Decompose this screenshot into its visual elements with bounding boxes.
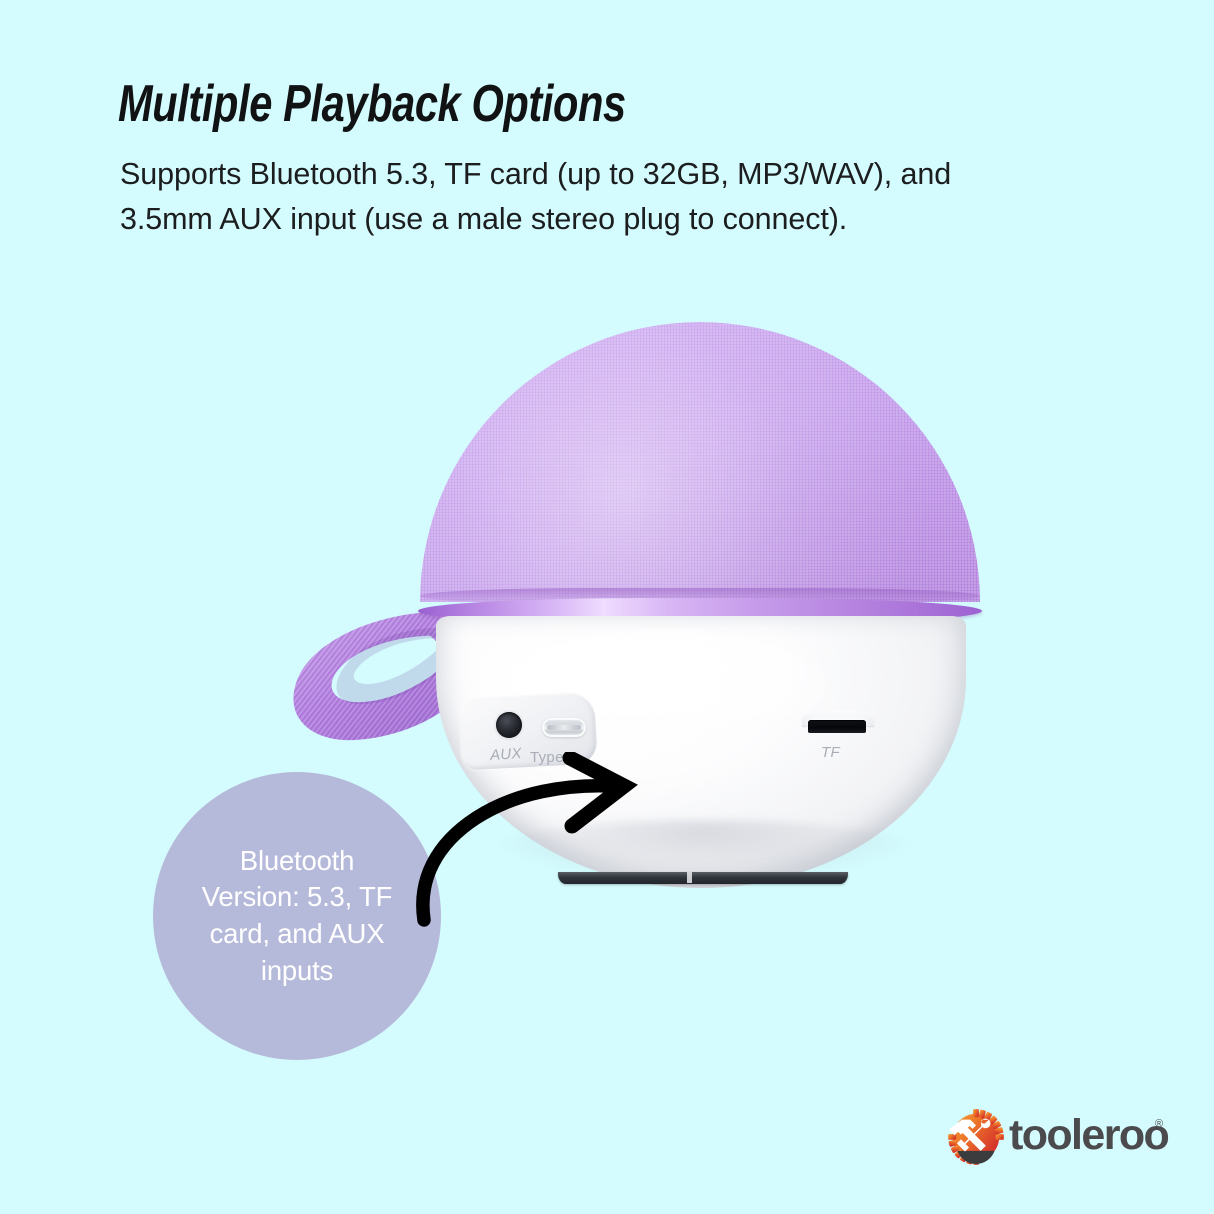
callout-line-4: inputs [172,953,422,990]
registered-trademark-mark: ® [1155,1118,1163,1130]
aux-jack-port [496,712,522,738]
subcopy-line-2: 3.5mm AUX input (use a male stereo plug … [120,197,1100,242]
infographic-canvas: Multiple Playback Options Supports Bluet… [0,0,1214,1214]
usb-c-port [542,718,586,737]
page-title: Multiple Playback Options [118,78,626,130]
brand-logo: tooleroo ® [947,1106,1169,1168]
gear-tools-icon [947,1108,1005,1166]
callout-line-3: card, and AUX [172,916,422,953]
page-subcopy: Supports Bluetooth 5.3, TF card (up to 3… [120,152,1100,242]
brand-wordmark: tooleroo [1009,1114,1168,1157]
tf-card-slot [808,720,866,733]
pointer-arrow-icon [392,752,692,952]
subcopy-line-1: Supports Bluetooth 5.3, TF card (up to 3… [120,152,1100,197]
callout-line-2: Version: 5.3, TF [172,879,422,916]
tf-slot-label: TF [821,744,840,761]
callout-text: Bluetooth Version: 5.3, TF card, and AUX… [172,843,422,989]
callout-line-1: Bluetooth [172,843,422,880]
